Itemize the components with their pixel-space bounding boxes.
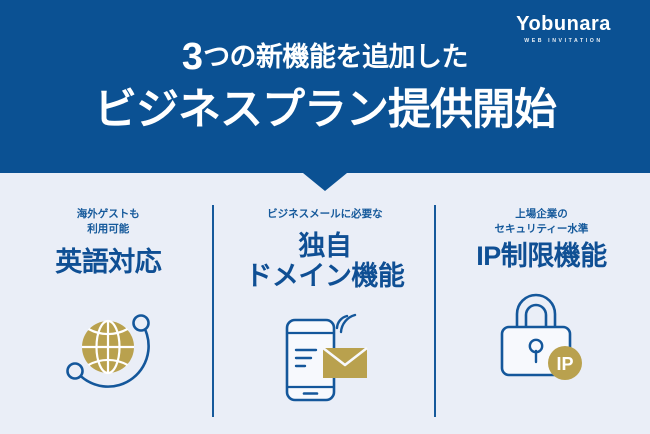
header-band: Yobunara WEB INVITATION 3つの新機能を追加した ビジネス… [0,0,650,173]
feature-columns: 海外ゲストも 利用可能 英語対応 [0,196,650,426]
feature-column-ip: 上場企業の セキュリティー水準 IP制限機能 IP [433,196,650,426]
feature-caption-line: 上場企業の [495,207,589,222]
smartphone-mail-icon [269,306,381,410]
downward-arrow-icon [303,173,347,191]
feature-heading-line: 独自 [245,231,404,261]
feature-caption-line: 利用可能 [77,222,140,237]
promo-graphic: Yobunara WEB INVITATION 3つの新機能を追加した ビジネス… [0,0,650,434]
feature-column-domain: ビジネスメールに必要な 独自 ドメイン機能 [217,196,434,426]
brand-logo-wordmark: Yobunara [496,14,631,34]
globe-icon [52,290,164,402]
lock-ip-badge-label: IP [557,354,574,374]
feature-heading: 独自 ドメイン機能 [245,231,404,291]
headline-group: 3つの新機能を追加した ビジネスプラン提供開始 [0,38,650,132]
feature-icon-lock: IP [433,284,650,388]
headline-line-1: 3つの新機能を追加した [0,38,650,76]
feature-caption: ビジネスメールに必要な [267,207,383,222]
feature-caption: 海外ゲストも 利用可能 [77,207,140,237]
feature-caption: 上場企業の セキュリティー水準 [495,207,589,237]
feature-caption-line: 海外ゲストも [77,207,140,222]
feature-icon-globe [0,290,217,402]
feature-heading-line: ドメイン機能 [245,261,404,291]
feature-heading: 英語対応 [55,249,161,276]
headline-feature-count: 3 [182,36,203,78]
feature-caption-line: ビジネスメールに必要な [267,207,383,222]
feature-icon-mail [217,306,434,410]
feature-heading: IP制限機能 [476,243,607,270]
feature-column-english: 海外ゲストも 利用可能 英語対応 [0,196,217,426]
feature-caption-line: セキュリティー水準 [495,222,589,237]
headline-line-2: ビジネスプラン提供開始 [0,89,650,132]
lock-ip-icon: IP [485,284,597,388]
headline-line-1-text: つの新機能を追加した [203,42,468,72]
